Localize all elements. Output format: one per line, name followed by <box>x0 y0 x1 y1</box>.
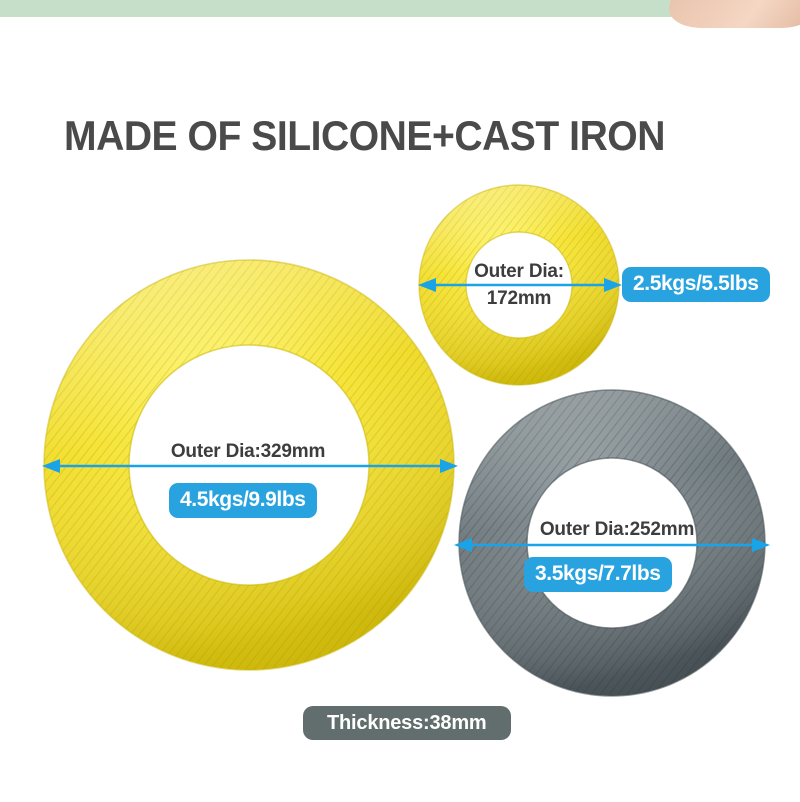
top-banner <box>0 0 800 17</box>
small-ring-dimension-arrow <box>416 274 624 296</box>
infographic-canvas: MADE OF SILICONE+CAST IRON <box>0 0 800 802</box>
small-ring-weight-badge: 2.5kgs/5.5lbs <box>622 267 770 302</box>
large-ring-dimension-arrow <box>40 455 460 477</box>
gray-ring-weight-badge: 3.5kgs/7.7lbs <box>524 557 672 592</box>
page-title: MADE OF SILICONE+CAST IRON <box>64 110 715 162</box>
thickness-pill: Thickness:38mm <box>303 706 511 740</box>
large-ring-weight-badge: 4.5kgs/9.9lbs <box>169 483 317 518</box>
arm-photo-fragment <box>662 0 800 28</box>
gray-ring-dimension-arrow <box>452 534 772 556</box>
